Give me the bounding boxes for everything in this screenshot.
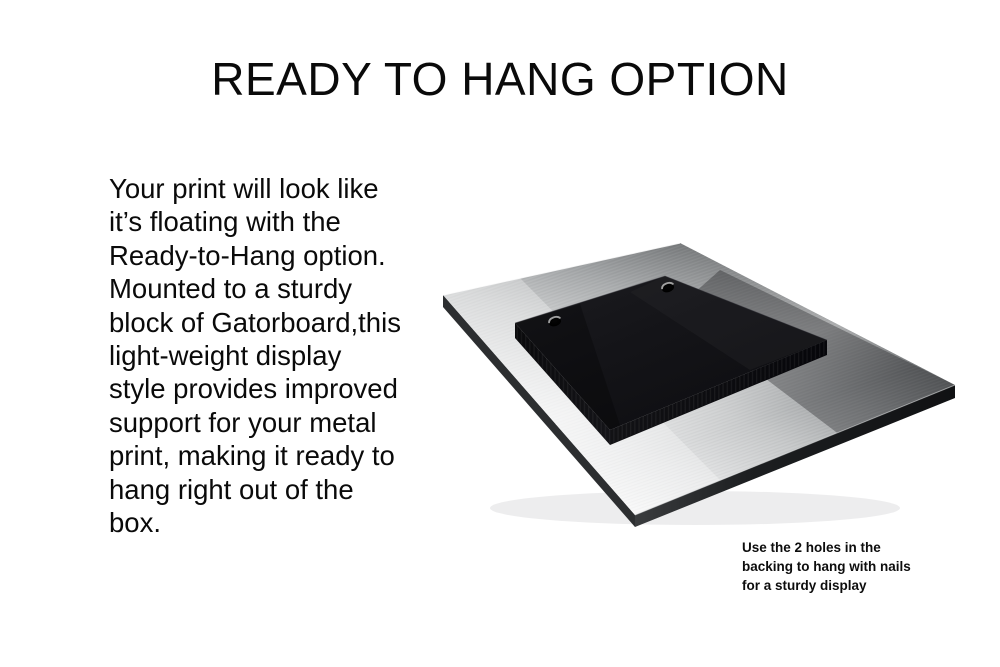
page-title: READY TO HANG OPTION — [0, 52, 1000, 106]
body-copy-line: print, making it ready to — [109, 439, 409, 472]
body-copy-line: support for your metal — [109, 406, 409, 439]
caption-line: for a sturdy display — [742, 576, 992, 595]
caption-line: Use the 2 holes in the — [742, 538, 992, 557]
product-photo — [420, 230, 980, 530]
body-copy-line: style provides improved — [109, 372, 409, 405]
body-copy-line: Mounted to a sturdy — [109, 272, 409, 305]
body-copy-line: box. — [109, 506, 409, 539]
body-copy-line: Your print will look like — [109, 172, 409, 205]
body-copy-line: it’s floating with the — [109, 205, 409, 238]
hang-instruction-caption: Use the 2 holes in the backing to hang w… — [742, 538, 992, 595]
body-copy-line: Ready-to-Hang option. — [109, 239, 409, 272]
ready-to-hang-product-illustration — [420, 230, 980, 530]
body-copy-paragraph: Your print will look like it’s floating … — [109, 172, 409, 539]
body-copy-line: hang right out of the — [109, 473, 409, 506]
caption-line: backing to hang with nails — [742, 557, 992, 576]
body-copy-line: block of Gatorboard,this — [109, 306, 409, 339]
body-copy-line: light-weight display — [109, 339, 409, 372]
